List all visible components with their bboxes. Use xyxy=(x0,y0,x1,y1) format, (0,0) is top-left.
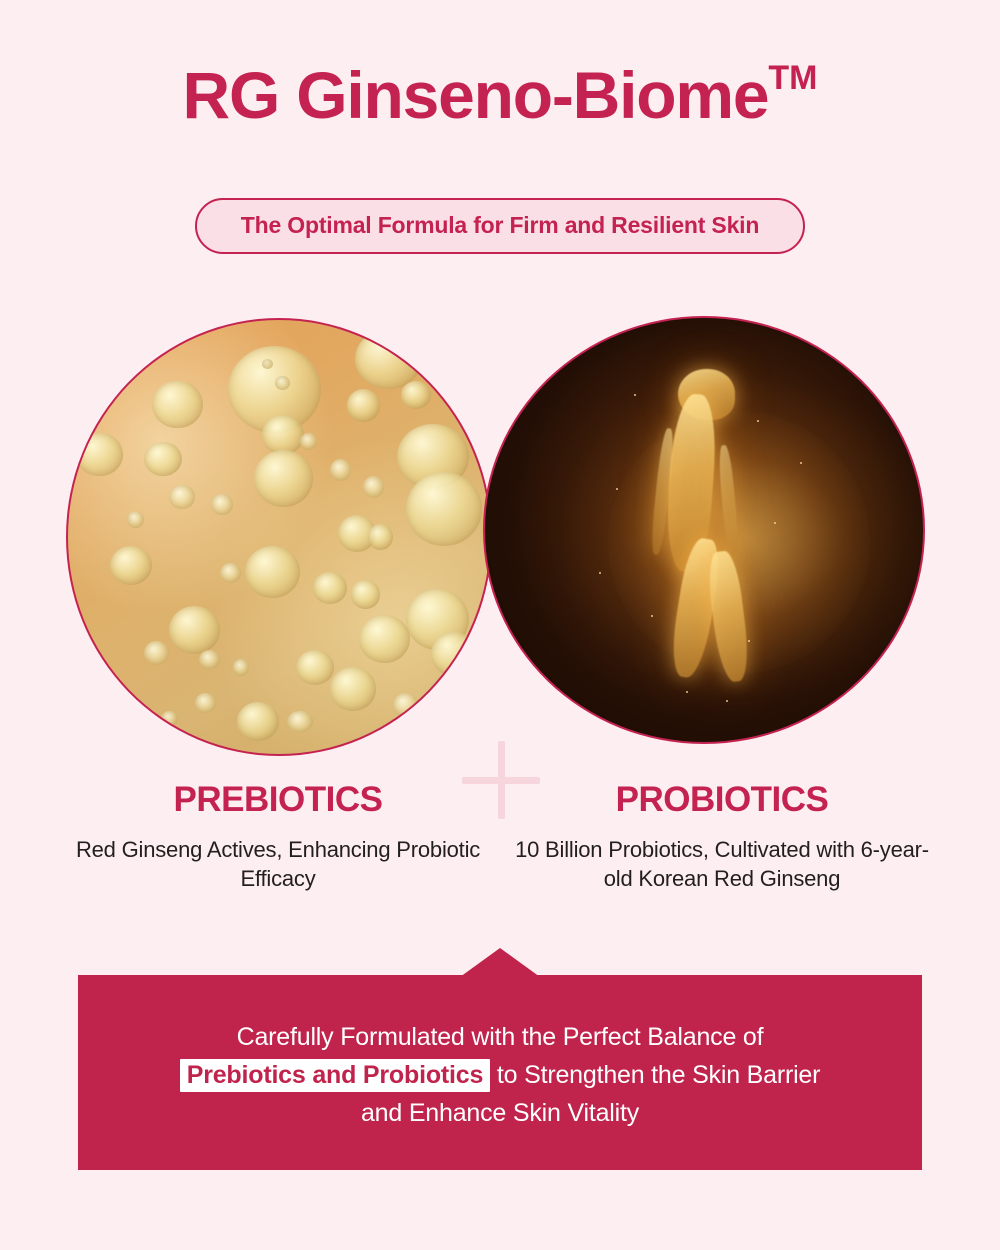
banner-line-2-rest: to Strengthen the Skin Barrier xyxy=(490,1061,820,1089)
banner-highlight: Prebiotics and Probiotics xyxy=(180,1059,490,1092)
prebiotics-image xyxy=(66,318,492,756)
product-infographic: RG Ginseno-BiomeTM The Optimal Formula f… xyxy=(0,0,1000,1250)
tagline-badge: The Optimal Formula for Firm and Resilie… xyxy=(195,198,805,254)
summary-banner-text: Carefully Formulated with the Perfect Ba… xyxy=(78,1018,922,1132)
probiotics-description: 10 Billion Probiotics, Cultivated with 6… xyxy=(512,835,932,894)
brand-title: RG Ginseno-BiomeTM xyxy=(183,62,818,128)
trademark-symbol: TM xyxy=(768,59,817,97)
column-prebiotics: PREBIOTICS Red Ginseng Actives, Enhancin… xyxy=(68,782,488,894)
banner-arrow-icon xyxy=(460,948,540,977)
column-probiotics: PROBIOTICS 10 Billion Probiotics, Cultiv… xyxy=(512,782,932,894)
probiotics-image xyxy=(483,316,925,744)
page-title: RG Ginseno-BiomeTM xyxy=(0,62,1000,128)
banner-line-3: and Enhance Skin Vitality xyxy=(361,1099,639,1127)
prebiotics-title: PREBIOTICS xyxy=(68,782,488,817)
summary-banner: Carefully Formulated with the Perfect Ba… xyxy=(78,975,922,1170)
brand-title-text: RG Ginseno-Biome xyxy=(183,58,769,132)
tagline-container: The Optimal Formula for Firm and Resilie… xyxy=(0,198,1000,254)
banner-line-1: Carefully Formulated with the Perfect Ba… xyxy=(237,1023,764,1051)
prebiotics-description: Red Ginseng Actives, Enhancing Probiotic… xyxy=(68,835,488,894)
plus-vertical-bar xyxy=(498,741,505,819)
probiotics-title: PROBIOTICS xyxy=(512,782,932,817)
